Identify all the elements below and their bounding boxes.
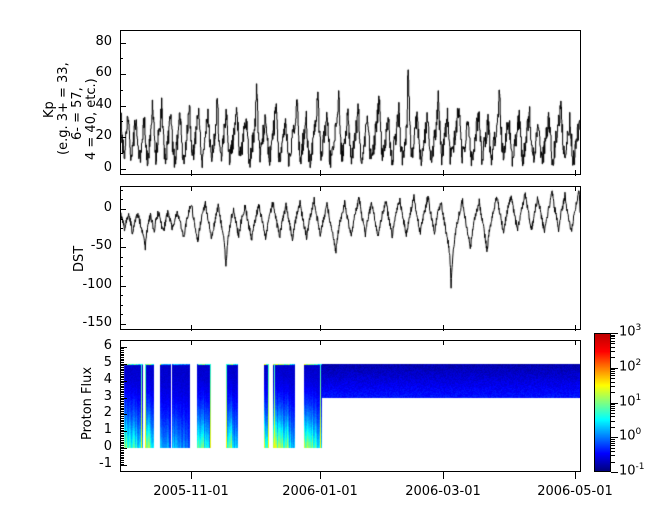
proton-flux-y-major-tick bbox=[120, 431, 127, 432]
proton-flux-y-tick-label: -1 bbox=[99, 456, 112, 471]
kp-x-major-tick bbox=[575, 170, 576, 176]
proton-flux-y-minor-tick bbox=[120, 389, 124, 390]
dst-plot-panel bbox=[120, 186, 581, 330]
proton-flux-y-minor-tick bbox=[120, 409, 124, 410]
proton-flux-y-minor-tick bbox=[120, 413, 124, 414]
colorbar-minor-tick bbox=[611, 413, 615, 414]
dst-y-major-tick bbox=[120, 324, 126, 325]
colorbar-major-tick bbox=[611, 333, 618, 334]
dst-y-major-tick bbox=[120, 247, 126, 248]
proton-flux-y-minor-tick bbox=[120, 359, 124, 360]
proton-flux-y-minor-tick bbox=[120, 377, 124, 378]
dst-y-tick-label: 0 bbox=[104, 200, 112, 215]
dst-y-minor-tick bbox=[120, 219, 123, 220]
dst-y-tick-label: -150 bbox=[82, 315, 112, 330]
colorbar-tick-label: 102 bbox=[619, 358, 641, 374]
proton-flux-y-minor-tick bbox=[120, 440, 124, 441]
proton-flux-y-minor-tick bbox=[120, 382, 124, 383]
proton-flux-y-tick-label: 5 bbox=[104, 355, 112, 370]
proton-flux-y-minor-tick bbox=[120, 365, 124, 366]
colorbar-minor-tick bbox=[611, 439, 615, 440]
kp-line-canvas bbox=[121, 31, 580, 174]
figure-root: 806040200 Kp (e.g. 3+ = 33, 6- = 57, 4 =… bbox=[0, 0, 665, 523]
dst-y-minor-tick bbox=[120, 314, 123, 315]
colorbar-gradient-canvas bbox=[595, 334, 610, 471]
proton-flux-y-minor-tick bbox=[120, 379, 124, 380]
dst-y-minor-tick bbox=[120, 190, 123, 191]
proton-flux-y-minor-tick bbox=[120, 384, 124, 385]
proton-flux-y-tick-label: 0 bbox=[104, 439, 112, 454]
proton-flux-x-top-tick bbox=[191, 340, 192, 345]
proton-flux-axis-title: Proton Flux bbox=[80, 367, 95, 440]
kp-y-tick-label: 0 bbox=[104, 160, 112, 175]
colorbar-minor-tick bbox=[611, 373, 615, 374]
proton-flux-y-major-tick bbox=[120, 465, 127, 466]
proton-flux-y-minor-tick bbox=[120, 462, 124, 463]
proton-flux-y-minor-tick bbox=[120, 372, 124, 373]
kp-axis-title-line-2: 6- = 57, bbox=[70, 87, 85, 140]
proton-flux-y-minor-tick bbox=[120, 360, 124, 361]
colorbar-minor-tick bbox=[611, 392, 615, 393]
proton-flux-y-major-tick bbox=[120, 448, 127, 449]
kp-y-minor-tick bbox=[120, 153, 123, 154]
proton-flux-y-minor-tick bbox=[120, 428, 124, 429]
proton-flux-x-major-tick bbox=[443, 471, 444, 479]
colorbar-minor-tick bbox=[611, 451, 615, 452]
kp-y-minor-tick bbox=[120, 90, 123, 91]
proton-flux-y-tick-label: 2 bbox=[104, 405, 112, 420]
colorbar-minor-tick bbox=[611, 386, 615, 387]
proton-flux-y-tick-label: 6 bbox=[104, 338, 112, 353]
colorbar-minor-tick bbox=[611, 375, 615, 376]
proton-flux-y-minor-tick bbox=[120, 452, 124, 453]
proton-flux-heatmap-canvas bbox=[121, 341, 580, 471]
colorbar-minor-tick bbox=[611, 416, 615, 417]
proton-flux-y-minor-tick bbox=[120, 396, 124, 397]
proton-flux-x-major-tick bbox=[320, 471, 321, 479]
kp-x-major-tick bbox=[191, 170, 192, 176]
colorbar-minor-tick bbox=[611, 369, 615, 370]
proton-flux-y-minor-tick bbox=[120, 350, 124, 351]
dst-x-top-tick bbox=[575, 186, 576, 191]
proton-flux-y-minor-tick bbox=[120, 450, 124, 451]
proton-flux-x-major-tick bbox=[575, 471, 576, 479]
proton-flux-y-minor-tick bbox=[120, 445, 124, 446]
dst-x-top-tick bbox=[320, 186, 321, 191]
kp-y-major-tick bbox=[120, 169, 126, 170]
proton-flux-y-tick-label: 1 bbox=[104, 422, 112, 437]
dst-x-major-tick bbox=[191, 325, 192, 331]
dst-y-minor-tick bbox=[120, 199, 123, 200]
proton-flux-y-minor-tick bbox=[120, 411, 124, 412]
proton-flux-y-minor-tick bbox=[120, 430, 124, 431]
proton-flux-y-minor-tick bbox=[120, 392, 124, 393]
proton-flux-y-minor-tick bbox=[120, 399, 124, 400]
colorbar-tick-label: 103 bbox=[619, 323, 641, 339]
proton-flux-y-minor-tick bbox=[120, 455, 124, 456]
kp-axis-title-line-3: 4 = 40, etc.) bbox=[84, 78, 99, 160]
proton-flux-y-tick-label: 4 bbox=[104, 372, 112, 387]
proton-flux-y-minor-tick bbox=[120, 391, 124, 392]
kp-plot-panel bbox=[120, 30, 581, 175]
kp-y-major-tick bbox=[120, 74, 126, 75]
proton-flux-y-minor-tick bbox=[120, 386, 124, 387]
colorbar-minor-tick bbox=[611, 336, 615, 337]
dst-y-major-tick bbox=[120, 286, 126, 287]
colorbar-minor-tick bbox=[611, 351, 615, 352]
colorbar-minor-tick bbox=[611, 347, 615, 348]
proton-flux-y-minor-tick bbox=[120, 442, 124, 443]
dst-axis-title: DST bbox=[72, 246, 87, 272]
colorbar-minor-tick bbox=[611, 410, 615, 411]
x-axis-tick-label: 2006-03-01 bbox=[405, 484, 481, 499]
colorbar-minor-tick bbox=[611, 338, 615, 339]
colorbar-minor-tick bbox=[611, 462, 615, 463]
proton-flux-y-minor-tick bbox=[120, 354, 124, 355]
dst-y-minor-tick bbox=[120, 276, 123, 277]
kp-y-minor-tick bbox=[120, 121, 123, 122]
colorbar-major-tick bbox=[611, 472, 618, 473]
kp-y-minor-tick bbox=[120, 58, 123, 59]
dst-y-minor-tick bbox=[120, 238, 123, 239]
proton-flux-y-tick-label: 3 bbox=[104, 389, 112, 404]
dst-y-tick-label: -100 bbox=[82, 277, 112, 292]
dst-x-top-tick bbox=[191, 186, 192, 191]
colorbar-minor-tick bbox=[611, 371, 615, 372]
colorbar-minor-tick bbox=[611, 341, 615, 342]
colorbar-minor-tick bbox=[611, 357, 615, 358]
proton-flux-x-major-tick bbox=[191, 471, 192, 479]
proton-flux-y-minor-tick bbox=[120, 420, 124, 421]
proton-flux-y-minor-tick bbox=[120, 426, 124, 427]
dst-y-minor-tick bbox=[120, 257, 123, 258]
proton-flux-y-minor-tick bbox=[120, 458, 124, 459]
colorbar-minor-tick bbox=[611, 408, 615, 409]
colorbar-frame bbox=[594, 333, 611, 472]
dst-y-minor-tick bbox=[120, 266, 123, 267]
proton-flux-y-minor-tick bbox=[120, 348, 124, 349]
proton-flux-y-minor-tick bbox=[120, 443, 124, 444]
kp-axis-title-line-0: Kp bbox=[42, 101, 57, 118]
proton-flux-y-minor-tick bbox=[120, 367, 124, 368]
proton-flux-y-minor-tick bbox=[120, 387, 124, 388]
kp-y-major-tick bbox=[120, 106, 126, 107]
proton-flux-y-minor-tick bbox=[120, 369, 124, 370]
proton-flux-y-minor-tick bbox=[120, 436, 124, 437]
proton-flux-y-minor-tick bbox=[120, 457, 124, 458]
proton-flux-x-top-tick bbox=[320, 340, 321, 345]
kp-axis-title-line-1: (e.g. 3+ = 33, bbox=[56, 62, 71, 155]
colorbar-minor-tick bbox=[611, 378, 615, 379]
colorbar-minor-tick bbox=[611, 441, 615, 442]
dst-y-minor-tick bbox=[120, 295, 123, 296]
proton-flux-y-minor-tick bbox=[120, 421, 124, 422]
colorbar-minor-tick bbox=[611, 427, 615, 428]
proton-flux-y-minor-tick bbox=[120, 362, 124, 363]
dst-y-minor-tick bbox=[120, 228, 123, 229]
colorbar-tick-label: 10-1 bbox=[619, 462, 645, 478]
dst-x-top-tick bbox=[443, 186, 444, 191]
dst-line-canvas bbox=[121, 187, 580, 329]
x-axis-tick-label: 2006-01-01 bbox=[282, 484, 358, 499]
proton-flux-y-minor-tick bbox=[120, 418, 124, 419]
proton-flux-y-minor-tick bbox=[120, 438, 124, 439]
kp-y-major-tick bbox=[120, 137, 126, 138]
dst-x-major-tick bbox=[443, 325, 444, 331]
colorbar-minor-tick bbox=[611, 335, 615, 336]
colorbar-minor-tick bbox=[611, 455, 615, 456]
proton-flux-y-minor-tick bbox=[120, 352, 124, 353]
colorbar-major-tick bbox=[611, 437, 618, 438]
proton-flux-x-top-tick bbox=[443, 340, 444, 345]
colorbar-tick-label: 101 bbox=[619, 393, 641, 409]
proton-flux-y-minor-tick bbox=[120, 460, 124, 461]
proton-flux-y-minor-tick bbox=[120, 394, 124, 395]
proton-flux-y-minor-tick bbox=[120, 376, 124, 377]
proton-flux-y-minor-tick bbox=[120, 453, 124, 454]
colorbar-minor-tick bbox=[611, 421, 615, 422]
kp-x-major-tick bbox=[443, 170, 444, 176]
proton-flux-y-minor-tick bbox=[120, 416, 124, 417]
dst-y-tick-label: -50 bbox=[91, 238, 112, 253]
dst-x-major-tick bbox=[575, 325, 576, 331]
kp-y-major-tick bbox=[120, 43, 126, 44]
x-axis-tick-label: 2006-05-01 bbox=[537, 484, 613, 499]
proton-flux-y-minor-tick bbox=[120, 425, 124, 426]
proton-flux-y-minor-tick bbox=[120, 435, 124, 436]
proton-flux-y-minor-tick bbox=[120, 406, 124, 407]
proton-flux-y-minor-tick bbox=[120, 355, 124, 356]
dst-y-major-tick bbox=[120, 209, 126, 210]
proton-flux-y-minor-tick bbox=[120, 433, 124, 434]
proton-flux-y-minor-tick bbox=[120, 464, 124, 465]
colorbar-tick-label: 100 bbox=[619, 427, 641, 443]
colorbar-minor-tick bbox=[611, 448, 615, 449]
proton-flux-y-minor-tick bbox=[120, 357, 124, 358]
proton-flux-y-minor-tick bbox=[120, 401, 124, 402]
proton-flux-y-minor-tick bbox=[120, 447, 124, 448]
colorbar-minor-tick bbox=[611, 382, 615, 383]
kp-y-tick-label: 80 bbox=[95, 34, 112, 49]
proton-flux-y-minor-tick bbox=[120, 370, 124, 371]
proton-flux-y-minor-tick bbox=[120, 408, 124, 409]
proton-flux-y-major-tick bbox=[120, 414, 127, 415]
proton-flux-y-minor-tick bbox=[120, 423, 124, 424]
proton-flux-y-minor-tick bbox=[120, 404, 124, 405]
proton-flux-x-top-tick bbox=[575, 340, 576, 345]
colorbar-minor-tick bbox=[611, 404, 615, 405]
dst-x-major-tick bbox=[320, 325, 321, 331]
colorbar-minor-tick bbox=[611, 406, 615, 407]
dst-y-minor-tick bbox=[120, 305, 123, 306]
colorbar-minor-tick bbox=[611, 343, 615, 344]
proton-flux-y-minor-tick bbox=[120, 403, 124, 404]
colorbar-minor-tick bbox=[611, 443, 615, 444]
proton-flux-plot-panel bbox=[120, 340, 581, 472]
colorbar-minor-tick bbox=[611, 445, 615, 446]
x-axis-tick-label: 2005-11-01 bbox=[153, 484, 229, 499]
kp-x-major-tick bbox=[320, 170, 321, 176]
proton-flux-y-minor-tick bbox=[120, 374, 124, 375]
